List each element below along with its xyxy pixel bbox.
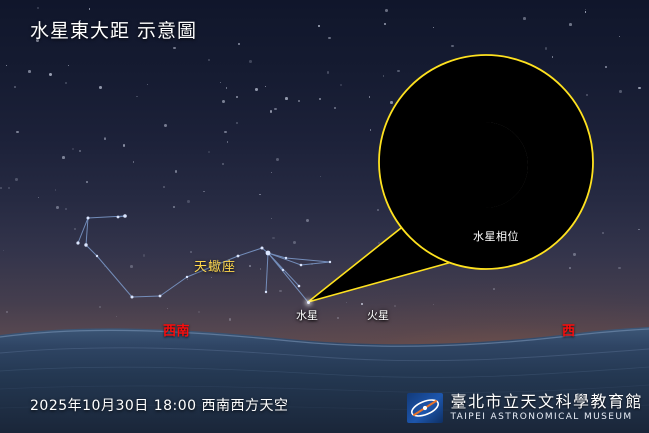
footer-datetime: 2025年10月30日 18:00 西南西方天空: [30, 395, 289, 415]
museum-name-en: TAIPEI ASTRONOMICAL MUSEUM: [450, 413, 643, 422]
mercury-phase-disc: [441, 121, 529, 209]
page-title: 水星東大距 示意圖: [30, 16, 197, 43]
museum-logo-text: 臺北市立天文科學教育館 TAIPEI ASTRONOMICAL MUSEUM: [450, 394, 643, 422]
sky-chart-figure: 水星相位 水星 火星 天蠍座 西南 西 水星東大距 示意圖 2025年10月30…: [0, 0, 649, 433]
observatory-swoosh-icon: [407, 393, 443, 423]
mars-label: 火星: [367, 307, 389, 323]
mercury-label: 水星: [296, 307, 318, 323]
direction-label-west: 西: [562, 320, 576, 339]
direction-label-southwest: 西南: [163, 320, 190, 339]
constellation-label-scorpius: 天蠍座: [194, 256, 236, 275]
museum-logo: 臺北市立天文科學教育館 TAIPEI ASTRONOMICAL MUSEUM: [407, 393, 643, 423]
museum-name-zh: 臺北市立天文科學教育館: [450, 394, 643, 410]
mercury-phase-callout[interactable]: [0, 0, 649, 433]
mercury-phase-label: 水星相位: [460, 228, 532, 244]
